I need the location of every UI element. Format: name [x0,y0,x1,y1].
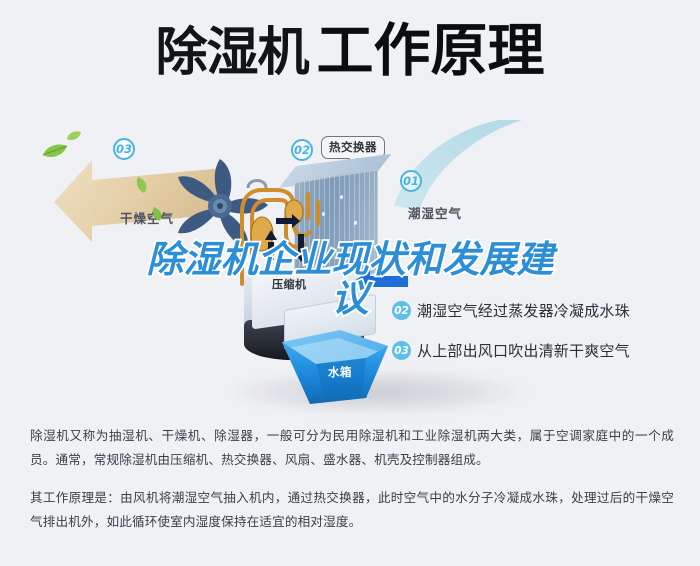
body-paragraph-2: 其工作原理是：由风机将潮湿空气抽入机内，通过热交换器，此时空气中的水分子冷凝成水… [30,486,674,534]
page-title-primary: 除湿机 [155,23,308,83]
legend-item: 03 从上部出风口吹出清新干爽空气 [392,340,692,361]
label-compressor: 压缩机 [272,276,307,292]
diagram-badge-03: 03 [113,138,135,160]
legend-text-02: 潮湿空气经过蒸发器冷凝成水珠 [417,300,630,321]
leaf-icon [42,144,68,164]
legend-badge-03: 03 [392,341,411,360]
leaf-icon [66,128,82,147]
diagram-legend: 02 潮湿空气经过蒸发器冷凝成水珠 03 从上部出风口吹出清新干爽空气 [392,300,692,380]
page-root: 除湿机工作原理 干燥空气 [0,0,700,566]
body-paragraph-1: 除湿机又称为抽湿机、干燥机、除湿器，一般可分为民用除湿机和工业除湿机两大类，属于… [30,424,674,472]
legend-item: 02 潮湿空气经过蒸发器冷凝成水珠 [392,300,692,321]
leaf-icon [136,176,150,198]
legend-text-03: 从上部出风口吹出清新干爽空气 [417,340,630,361]
air-intake-arrow-icon [352,271,408,293]
body-copy: 除湿机又称为抽湿机、干燥机、除湿器，一般可分为民用除湿机和工业除湿机两大类，属于… [30,424,674,534]
legend-badge-02: 02 [392,301,411,320]
label-water-tank: 水箱 [328,364,352,380]
page-title: 除湿机工作原理 [0,22,700,82]
page-title-secondary: 工作原理 [317,18,545,84]
